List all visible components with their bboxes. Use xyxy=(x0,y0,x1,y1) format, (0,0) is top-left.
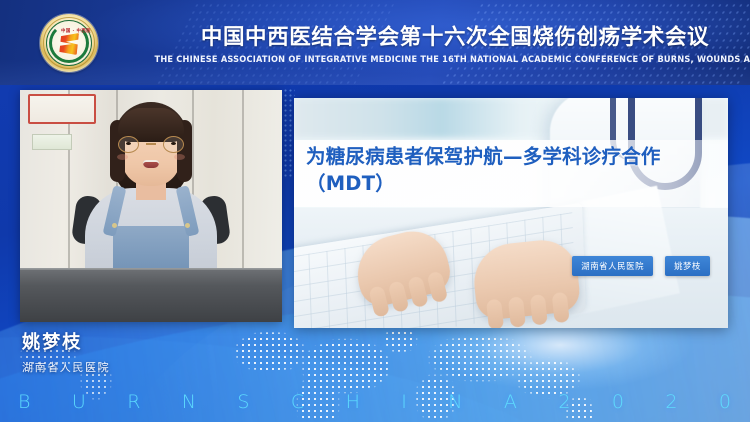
conference-title-english: THE CHINESE ASSOCIATION OF INTEGRATIVE M… xyxy=(8,54,743,64)
footer-letter: H xyxy=(346,391,361,413)
footer-letter: R xyxy=(127,391,141,413)
presenter-eye-right xyxy=(171,142,176,145)
footer-letter: 0 xyxy=(612,391,625,413)
presenter-mouth xyxy=(143,160,159,168)
footer-letter: N xyxy=(448,391,463,413)
footer-letter: B xyxy=(18,391,31,413)
presenter-strap-button-left xyxy=(112,223,117,228)
finger xyxy=(486,299,504,328)
presenter-eye-left xyxy=(126,142,131,145)
speaker-organization: 湖南省人民医院 xyxy=(22,359,252,375)
conference-title-chinese: 中国中西医结合学会第十六次全国烧伤创疡学术会议 xyxy=(0,20,750,51)
footer-letter: I xyxy=(401,391,408,413)
presenter-cheek-right xyxy=(174,154,185,160)
footer-letter: 2 xyxy=(558,391,571,413)
presenter-strap-button-right xyxy=(185,223,190,228)
finger xyxy=(530,294,548,325)
wall-notice-card xyxy=(32,134,72,150)
finger xyxy=(552,292,570,323)
speaker-lower-third: 姚梦枝 湖南省人民医院 xyxy=(22,328,252,375)
conference-livestream-screen: 中国 · 中西医 中国中西医结合学会第十六次全国烧伤创疡学术会议 THE CHI… xyxy=(0,0,750,422)
slide-badge-hospital: 湖南省人民医院 xyxy=(572,256,653,276)
speaker-name: 姚梦枝 xyxy=(22,328,252,354)
footer-letter: A xyxy=(504,391,518,413)
desk-surface xyxy=(20,270,282,322)
conference-header-banner: 中国 · 中西医 中国中西医结合学会第十六次全国烧伤创疡学术会议 THE CHI… xyxy=(0,0,750,85)
slide-title: 为糖尿病患者保驾护航—多学科诊疗合作（MDT） xyxy=(306,144,724,198)
finger xyxy=(508,296,526,327)
footer-letter: 0 xyxy=(719,391,732,413)
glasses-bridge-icon xyxy=(146,143,156,145)
presenter-cheek-left xyxy=(117,154,128,160)
footer-letter: 2 xyxy=(665,391,678,413)
presenter-video-panel[interactable] xyxy=(20,90,282,322)
slide-badge-presenter: 姚梦枝 xyxy=(665,256,710,276)
wall-seam xyxy=(242,90,244,272)
presentation-slide-panel[interactable]: 为糖尿病患者保驾护航—多学科诊疗合作（MDT） 湖南省人民医院 姚梦枝 xyxy=(294,98,728,328)
presenter-figure xyxy=(76,100,226,280)
slide-attribution-badges: 湖南省人民医院 姚梦枝 xyxy=(572,256,710,276)
footer-letter: C xyxy=(291,391,305,413)
footer-letter: U xyxy=(72,391,87,413)
footer-wordmark: BURNSCHINA2020 xyxy=(0,388,750,416)
footer-letter: S xyxy=(237,391,250,413)
footer-letter: N xyxy=(182,391,197,413)
